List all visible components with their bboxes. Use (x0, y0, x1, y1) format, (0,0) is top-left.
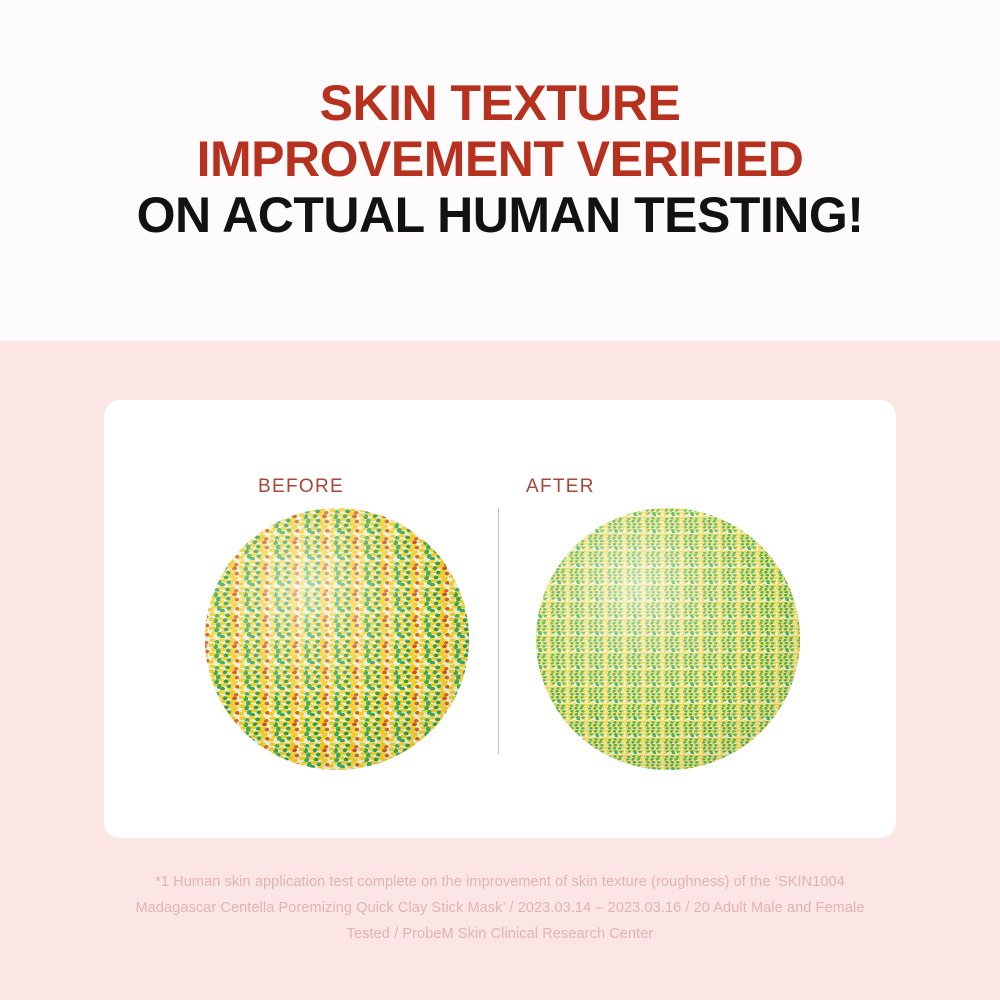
footnote-line-1: *1 Human skin application test complete … (100, 869, 900, 895)
header-band: SKIN TEXTURE IMPROVEMENT VERIFIED ON ACT… (0, 0, 1000, 341)
footnote-line-2: Madagascar Centella Poremizing Quick Cla… (100, 895, 900, 921)
before-after-card: BEFORE AFTER (104, 400, 896, 838)
footnote: *1 Human skin application test complete … (100, 869, 900, 947)
before-label: BEFORE (104, 476, 498, 498)
promo-page: SKIN TEXTURE IMPROVEMENT VERIFIED ON ACT… (0, 0, 1000, 1000)
comparison-divider (498, 508, 499, 754)
before-skin-texture-image (205, 508, 469, 770)
page-title: SKIN TEXTURE IMPROVEMENT VERIFIED ON ACT… (0, 78, 1000, 240)
after-skin-texture-image (536, 508, 800, 770)
comparison-labels: BEFORE AFTER (104, 476, 896, 502)
after-image-container (536, 508, 800, 770)
headline-line-1: SKIN TEXTURE (0, 78, 1000, 128)
headline-line-2: IMPROVEMENT VERIFIED (0, 134, 1000, 184)
before-image-container (205, 508, 469, 770)
after-label: AFTER (498, 476, 896, 498)
before-speckle-texture (205, 508, 469, 770)
headline-line-3: ON ACTUAL HUMAN TESTING! (0, 190, 1000, 240)
footnote-line-3: Tested / ProbeM Skin Clinical Research C… (100, 921, 900, 947)
after-speckle-texture (536, 508, 800, 770)
